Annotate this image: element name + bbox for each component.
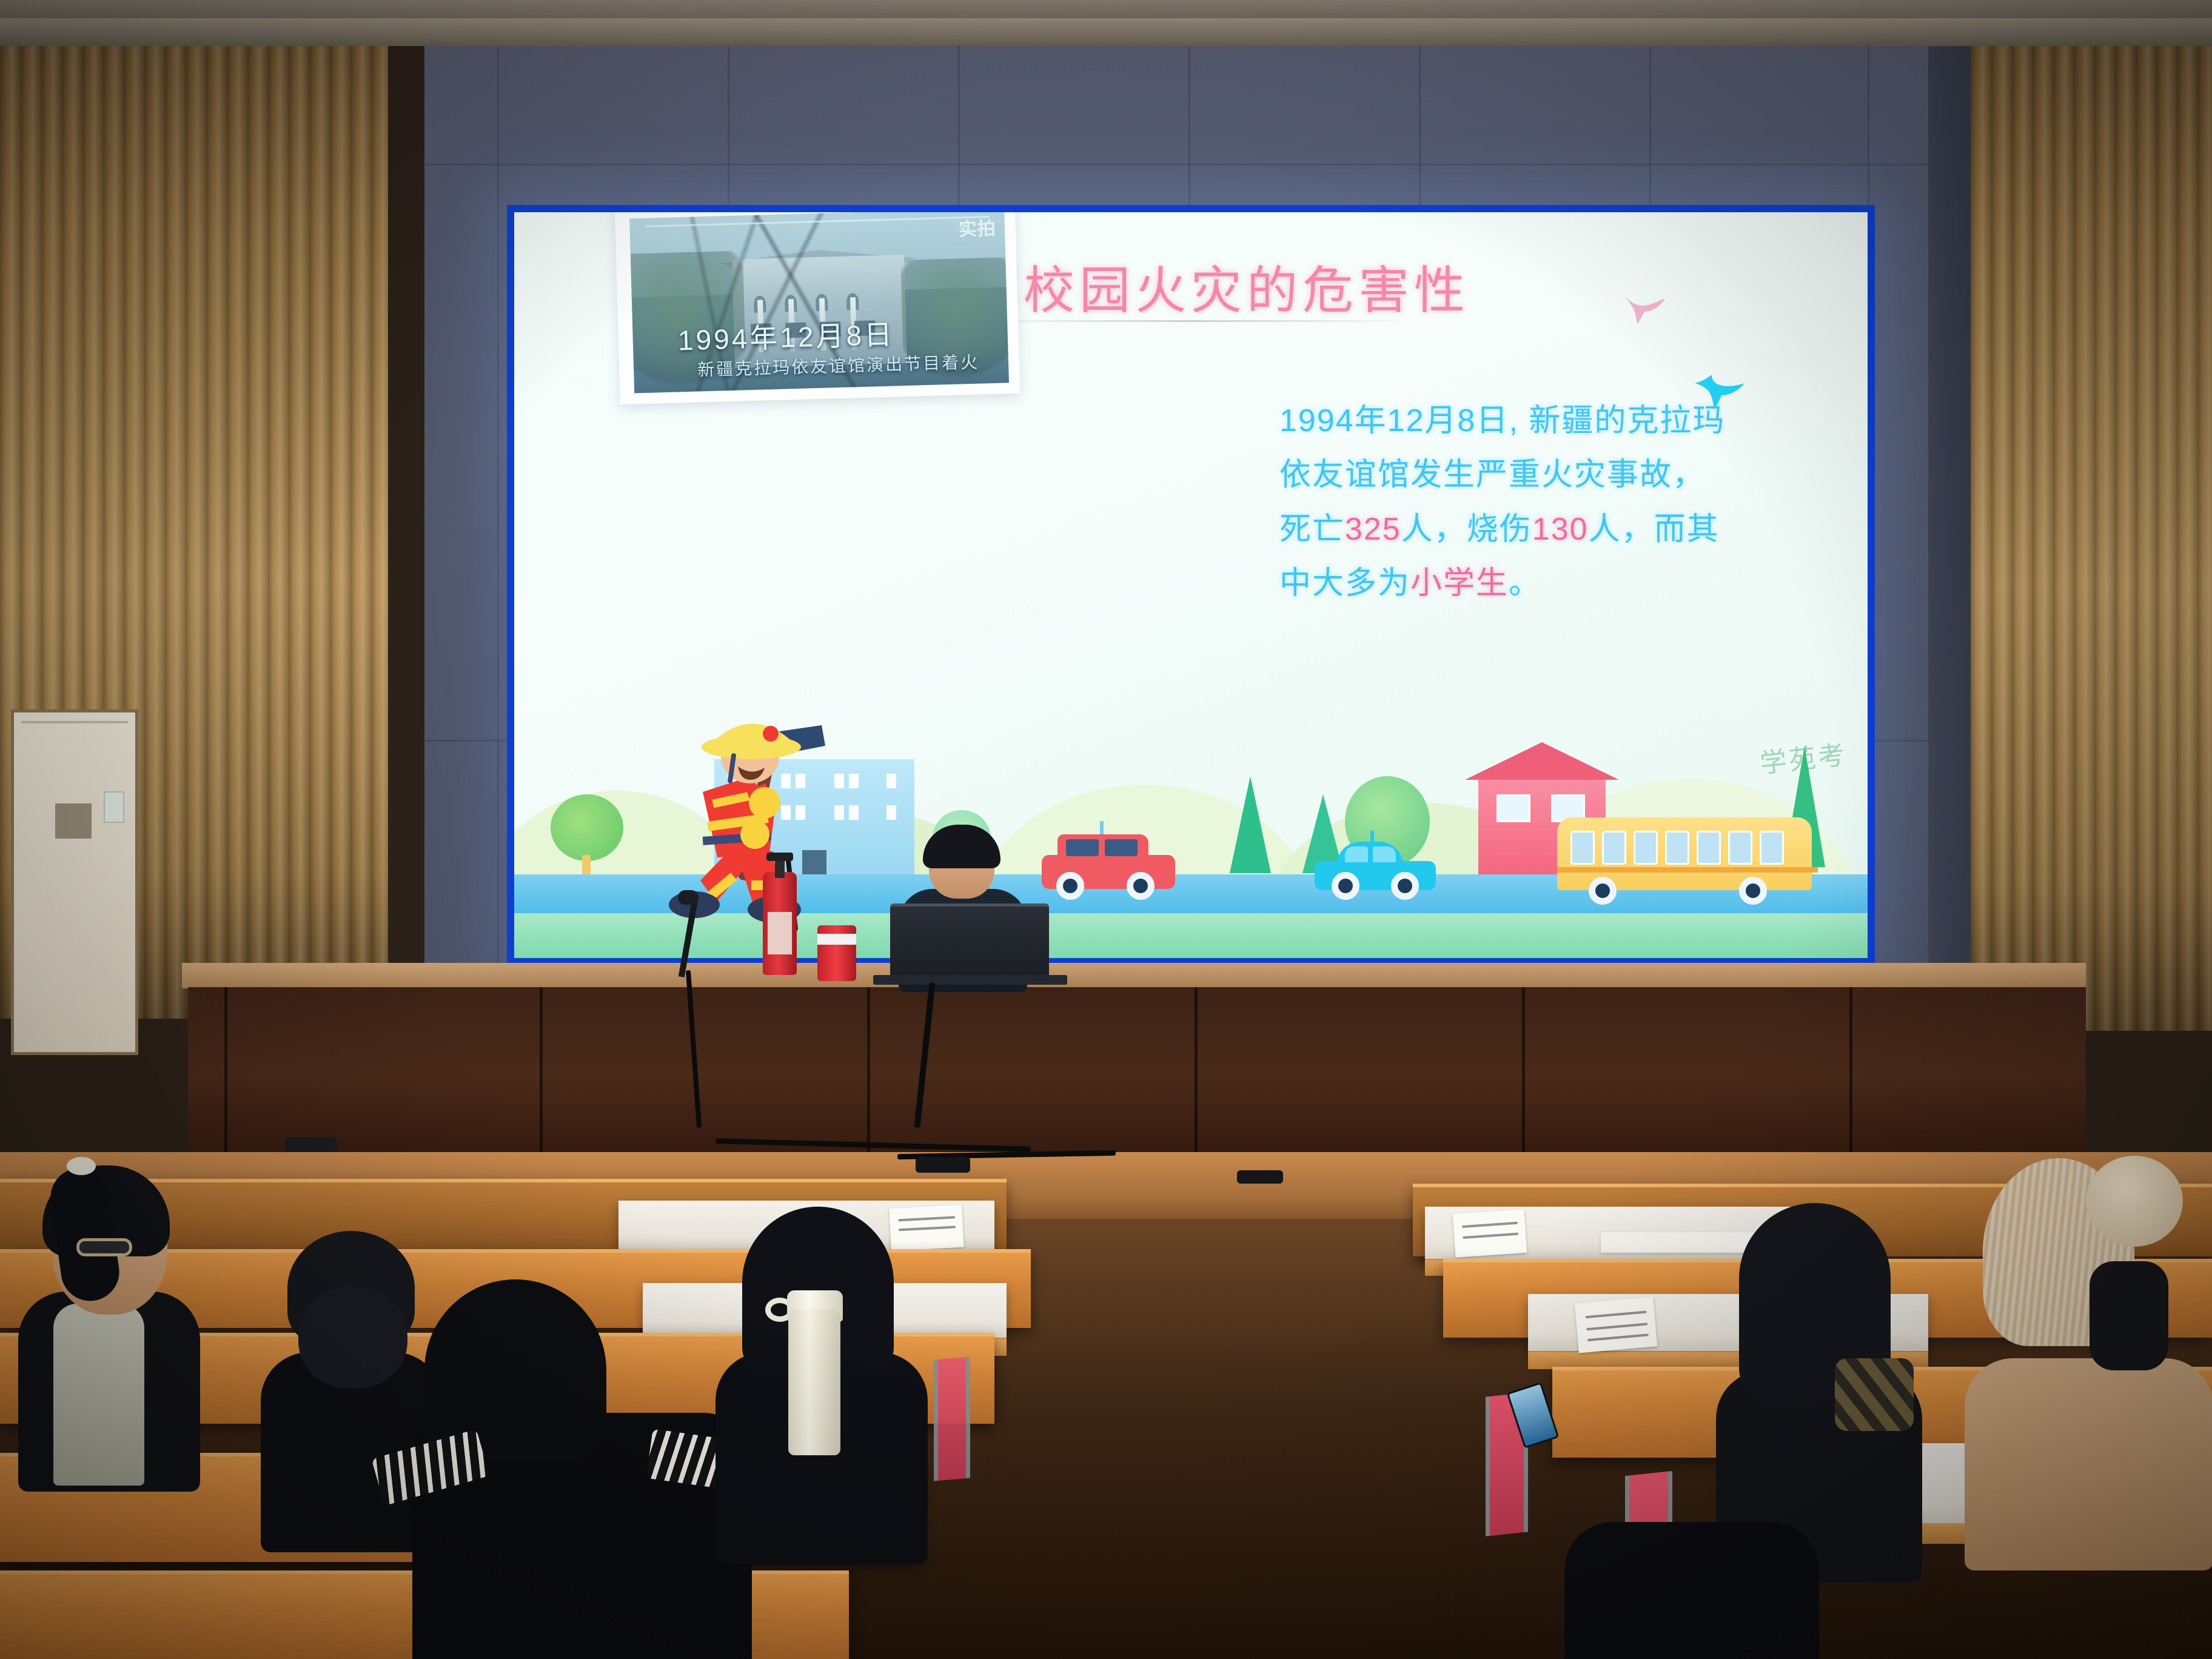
body-text-run: 中大多为 <box>1279 566 1410 601</box>
highlighted-number: 130 <box>1532 512 1589 547</box>
floor-outlet <box>285 1138 337 1152</box>
illustration-school-bus <box>1557 817 1818 900</box>
student-cream-pompom-hat <box>1965 1146 2212 1570</box>
hair-tie <box>67 1157 96 1175</box>
student-front-right-dark <box>1564 1498 1819 1659</box>
red-cup <box>817 925 856 981</box>
handwritten-paper[interactable] <box>1575 1296 1658 1353</box>
pink-storage-bin[interactable] <box>934 1356 970 1481</box>
body-text-run: 死亡 <box>1279 512 1345 547</box>
patterned-scarf <box>1835 1358 1914 1431</box>
floor-adapter <box>1237 1170 1283 1184</box>
illustration-firefighter <box>645 703 851 941</box>
student-glasses-grey-vest <box>18 1152 212 1492</box>
grey-vest <box>53 1304 144 1486</box>
slide-illustration-band <box>514 703 1868 958</box>
glasses <box>76 1238 132 1256</box>
slide-body-line-3: 中大多为小学生。 <box>1279 557 1783 611</box>
floor-adapter <box>916 1157 970 1173</box>
highlighted-number: 小学生 <box>1410 566 1509 601</box>
microphone-head <box>678 890 699 905</box>
body-text-run: 人，烧伤 <box>1401 512 1532 547</box>
title-underline <box>960 320 1421 322</box>
fire-extinguisher <box>763 848 797 975</box>
highlighted-number: 325 <box>1345 512 1401 547</box>
curtain-rail <box>0 18 2212 46</box>
tan-coat <box>1965 1358 2212 1570</box>
slide-body-line-2: 死亡325人，烧伤130人，而其 <box>1279 503 1783 557</box>
slide-body-text: 1994年12月8日, 新疆的克拉玛依友谊馆发生严重火灾事故，死亡325人，烧伤… <box>1279 394 1783 611</box>
news-photo: 实拍 1994年12月8日 新疆克拉玛依友谊馆演出节目着火 <box>629 212 1009 393</box>
slide-surface: 了解校园火灾的危害性 <box>514 212 1868 958</box>
laptop <box>890 903 1049 979</box>
body-text-run: 人，而其 <box>1589 512 1720 547</box>
slide-body-line-0: 1994年12月8日, 新疆的克拉玛 <box>1279 394 1783 448</box>
wall-cabinet-unit <box>11 709 138 1055</box>
illustration-pine <box>1230 776 1271 873</box>
hat-pompom <box>2086 1156 2183 1247</box>
curtain-right <box>1971 36 2212 1031</box>
illustration-tree <box>551 794 623 861</box>
slide-body-line-1: 依友谊馆发生严重火灾事故， <box>1279 448 1783 502</box>
body-text-run: 依友谊馆发生严重火灾事故， <box>1279 457 1705 492</box>
projection-screen: 了解校园火灾的危害性 <box>507 205 1875 963</box>
illustration-blue-car <box>1315 843 1436 900</box>
slide-photo-card: 实拍 1994年12月8日 新疆克拉玛依友谊馆演出节目着火 <box>615 212 1021 404</box>
white-thermos-bottle[interactable] <box>788 1310 840 1455</box>
hair <box>424 1279 606 1461</box>
stage-front-panels <box>188 987 2086 1163</box>
photo-corner-logo: 实拍 <box>958 213 996 241</box>
body-text-run: 1994年12月8日, 新疆的克拉玛 <box>1279 403 1725 438</box>
laptop-base <box>873 975 1067 985</box>
body-text-run: 。 <box>1509 566 1541 601</box>
illustration-red-suv <box>1042 834 1175 900</box>
hair <box>2090 1261 2168 1370</box>
handwritten-paper[interactable] <box>1453 1209 1527 1258</box>
stage-top-edge <box>182 963 2086 988</box>
lecture-hall-photo: 了解校园火灾的危害性 <box>0 0 2212 1659</box>
presenter-hair <box>923 825 1000 868</box>
